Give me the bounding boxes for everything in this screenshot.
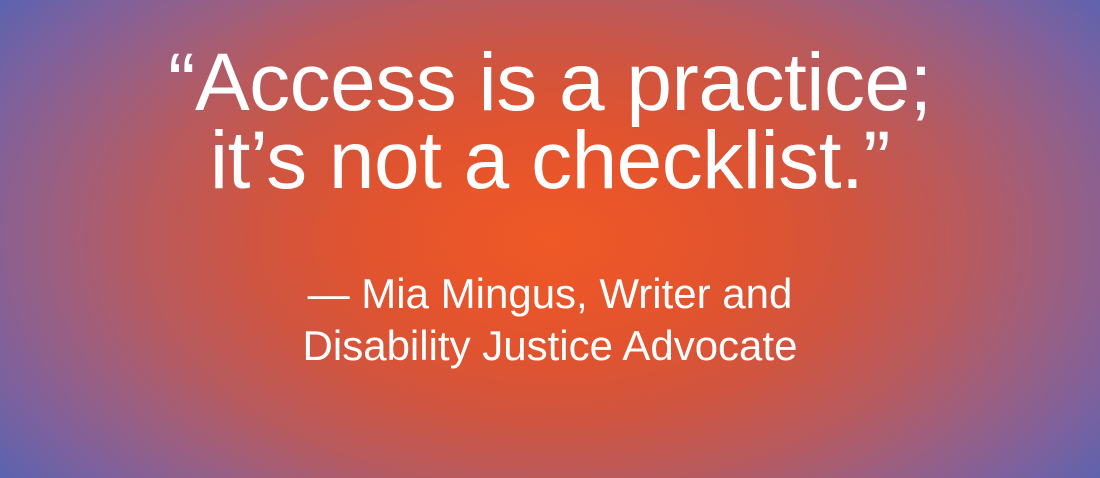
attribution-line-2: Disability Justice Advocate — [0, 320, 1100, 372]
quote-card: “Access is a practice; it’s not a checkl… — [0, 0, 1100, 478]
quote-text-block: “Access is a practice; it’s not a checkl… — [0, 44, 1100, 200]
attribution-block: — Mia Mingus, Writer and Disability Just… — [0, 268, 1100, 372]
quote-line-2: it’s not a checklist.” — [0, 122, 1100, 200]
attribution-line-1: — Mia Mingus, Writer and — [0, 268, 1100, 320]
quote-content: “Access is a practice; it’s not a checkl… — [0, 0, 1100, 478]
quote-line-1: “Access is a practice; — [0, 44, 1100, 122]
